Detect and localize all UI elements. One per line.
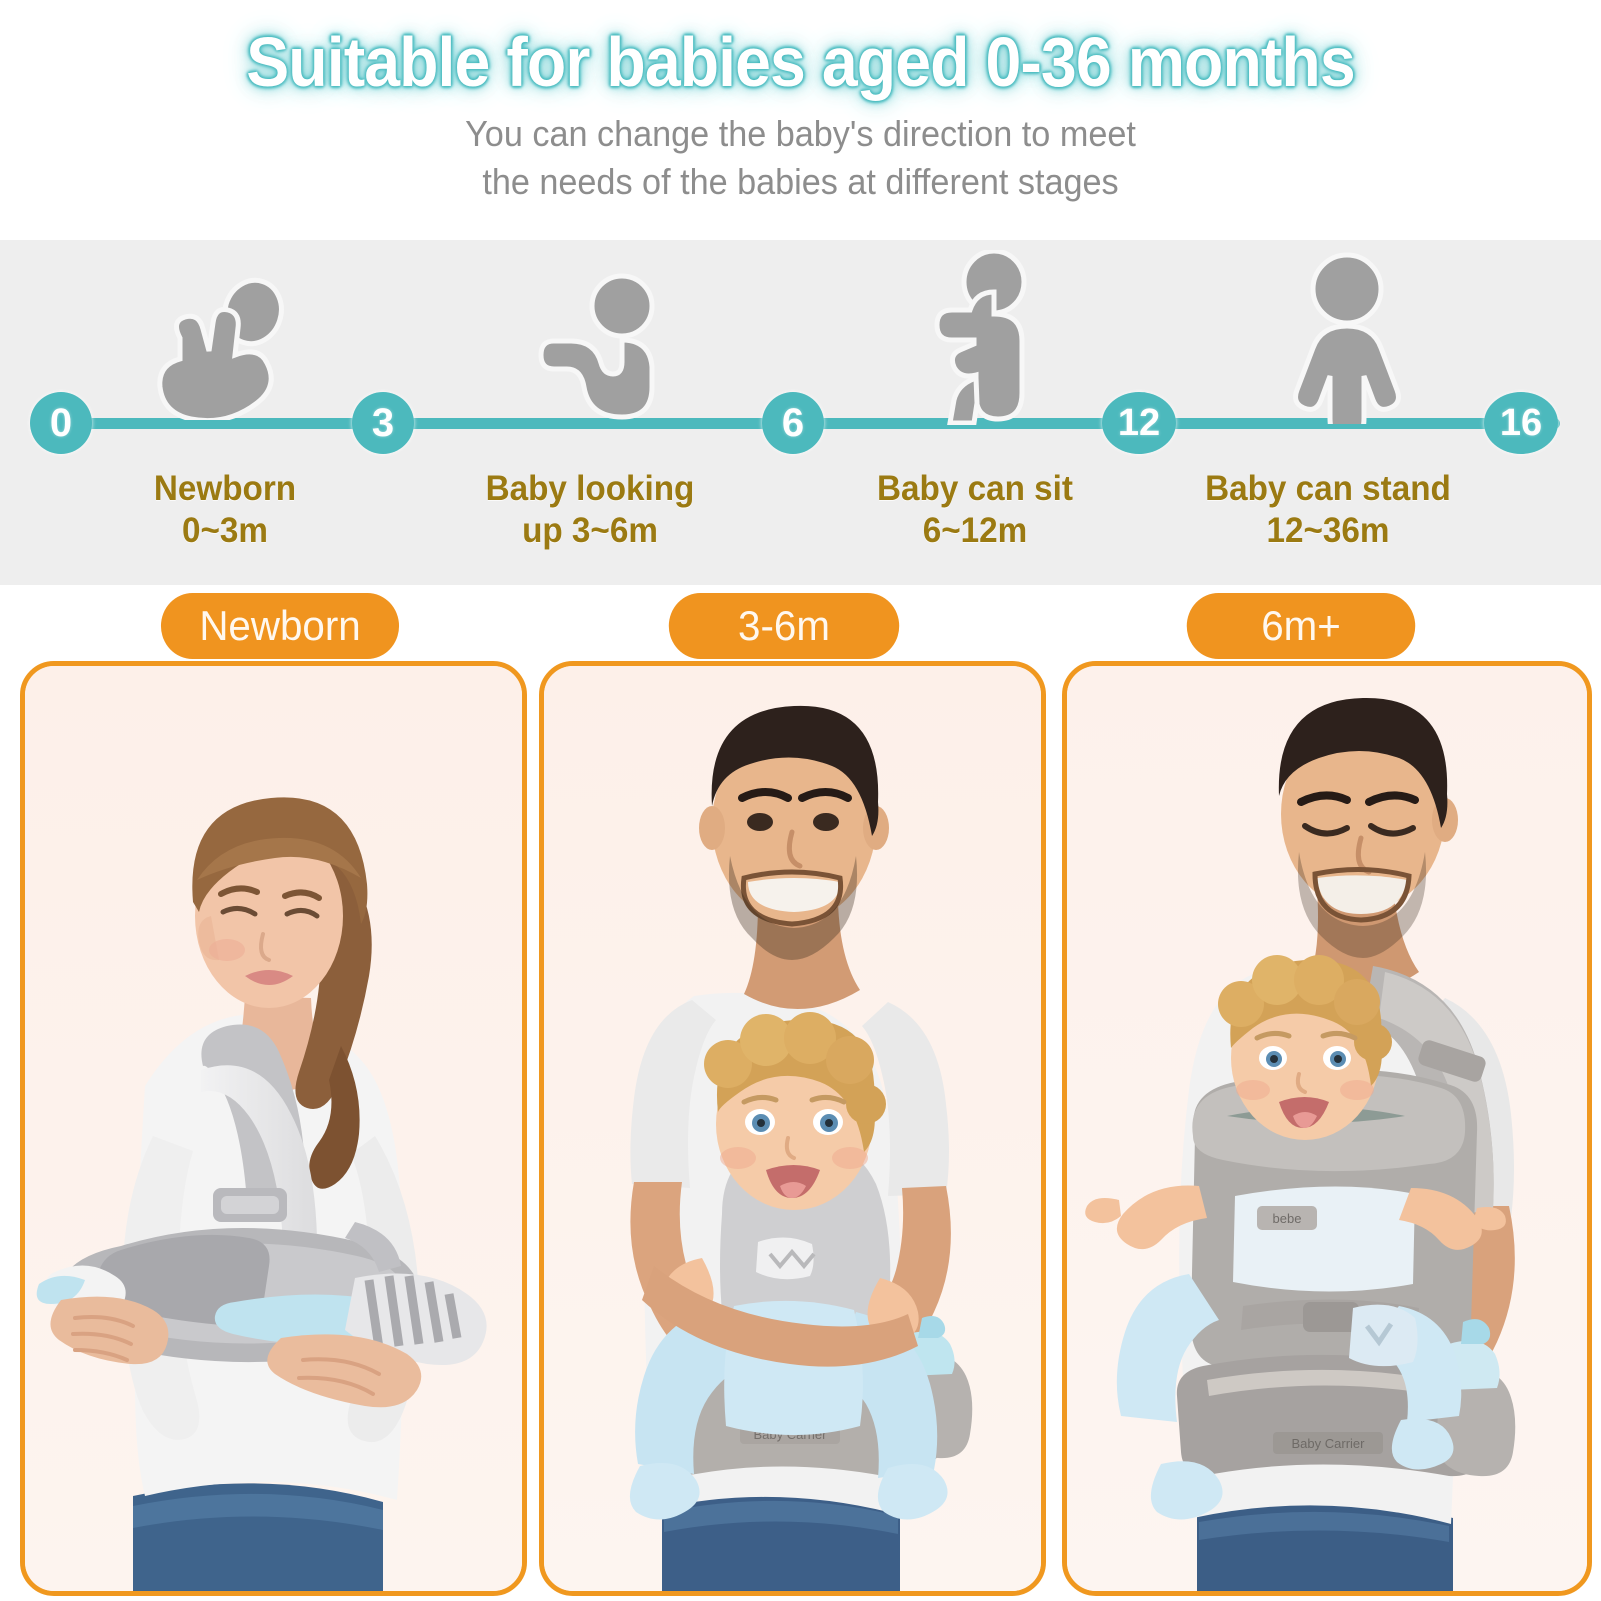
svg-text:Baby Carrier: Baby Carrier xyxy=(1292,1436,1366,1451)
timeline-node-6[interactable]: 6 xyxy=(762,392,824,454)
newborn-lying-icon xyxy=(150,270,300,420)
stage-range: 0~3m xyxy=(68,510,382,552)
stage-range: up 3~6m xyxy=(433,510,747,552)
baby-sitting-icon xyxy=(910,250,1060,425)
usage-card-newborn[interactable] xyxy=(20,661,527,1596)
stage-name: Baby can stand xyxy=(1205,469,1451,508)
usage-card-3-6m[interactable]: Baby Carrier xyxy=(539,661,1046,1596)
card-badge-3-6m[interactable]: 3-6m xyxy=(669,593,899,659)
photo-father-baby-full-carrier: bebe Baby Carrier xyxy=(1067,666,1587,1591)
header: Suitable for babies aged 0-36 months You… xyxy=(0,0,1601,240)
usage-card-6m-plus[interactable]: bebe Baby Carrier xyxy=(1062,661,1592,1596)
stage-name: Baby can sit xyxy=(877,469,1073,508)
timeline-node-16[interactable]: 16 xyxy=(1484,392,1558,454)
subtitle-line-1: You can change the baby's direction to m… xyxy=(40,110,1561,158)
stage-label-standing: Baby can stand 12~36m xyxy=(1171,468,1485,552)
stage-name: Baby looking xyxy=(486,469,695,508)
stage-label-looking-up: Baby looking up 3~6m xyxy=(433,468,747,552)
card-badge-6m-plus[interactable]: 6m+ xyxy=(1187,593,1415,659)
photo-father-baby-hipseat: Baby Carrier xyxy=(544,666,1041,1591)
stage-name: Newborn xyxy=(154,469,296,508)
stage-range: 12~36m xyxy=(1171,510,1485,552)
page-subtitle: You can change the baby's direction to m… xyxy=(40,110,1561,206)
baby-standing-icon xyxy=(1272,252,1422,424)
card-badge-newborn[interactable]: Newborn xyxy=(161,593,399,659)
timeline-node-12[interactable]: 12 xyxy=(1102,392,1176,454)
stage-range: 6~12m xyxy=(818,510,1132,552)
photo-mother-newborn xyxy=(25,666,522,1591)
usage-cards-section: Baby Carrier xyxy=(0,585,1601,1601)
age-timeline-band: 0 3 6 12 16 Newborn 0~3m Baby looking up… xyxy=(0,240,1601,585)
stage-label-sitting: Baby can sit 6~12m xyxy=(818,468,1132,552)
stage-label-newborn: Newborn 0~3m xyxy=(68,468,382,552)
subtitle-line-2: the needs of the babies at different sta… xyxy=(40,158,1561,206)
timeline-node-0[interactable]: 0 xyxy=(30,392,92,454)
timeline-node-3[interactable]: 3 xyxy=(352,392,414,454)
page-title: Suitable for babies aged 0-36 months xyxy=(64,22,1537,102)
baby-looking-up-icon xyxy=(530,270,680,420)
svg-text:bebe: bebe xyxy=(1273,1211,1302,1226)
